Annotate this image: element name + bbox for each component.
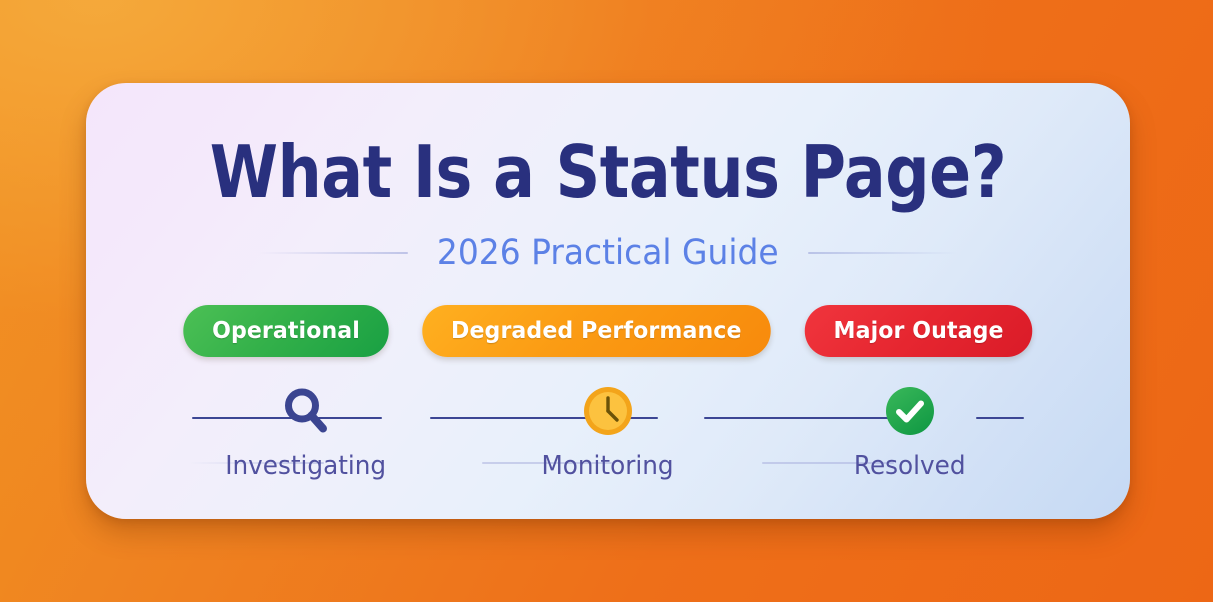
page-background: What Is a Status Page? 2026 Practical Gu… <box>0 0 1213 602</box>
timeline-step-list: Investigating Monitoring <box>186 383 1030 481</box>
timeline-step-monitoring[interactable]: Monitoring <box>488 383 728 481</box>
page-title: What Is a Status Page? <box>159 136 1057 208</box>
page-subtitle: 2026 Practical Guide <box>437 233 779 273</box>
timeline-step-resolved[interactable]: Resolved <box>790 383 1030 481</box>
status-page-card: What Is a Status Page? 2026 Practical Gu… <box>86 83 1130 519</box>
clock-icon <box>580 383 636 439</box>
check-circle-icon <box>882 383 938 439</box>
timeline-step-label: Investigating <box>226 451 387 481</box>
timeline-step-investigating[interactable]: Investigating <box>186 383 426 481</box>
status-badge-group: Operational Degraded Performance Major O… <box>86 305 1130 357</box>
subtitle-rule-right <box>808 252 958 254</box>
status-badge-degraded-performance[interactable]: Degraded Performance <box>422 305 770 357</box>
magnifier-icon <box>278 383 334 439</box>
timeline-step-label: Resolved <box>854 451 966 481</box>
subtitle-rule-left <box>258 252 408 254</box>
status-badge-major-outage[interactable]: Major Outage <box>804 305 1032 357</box>
incident-timeline: Investigating Monitoring <box>186 383 1030 493</box>
timeline-step-label: Monitoring <box>542 451 674 481</box>
status-badge-operational[interactable]: Operational <box>183 305 388 357</box>
subtitle-row: 2026 Practical Guide <box>86 233 1130 273</box>
